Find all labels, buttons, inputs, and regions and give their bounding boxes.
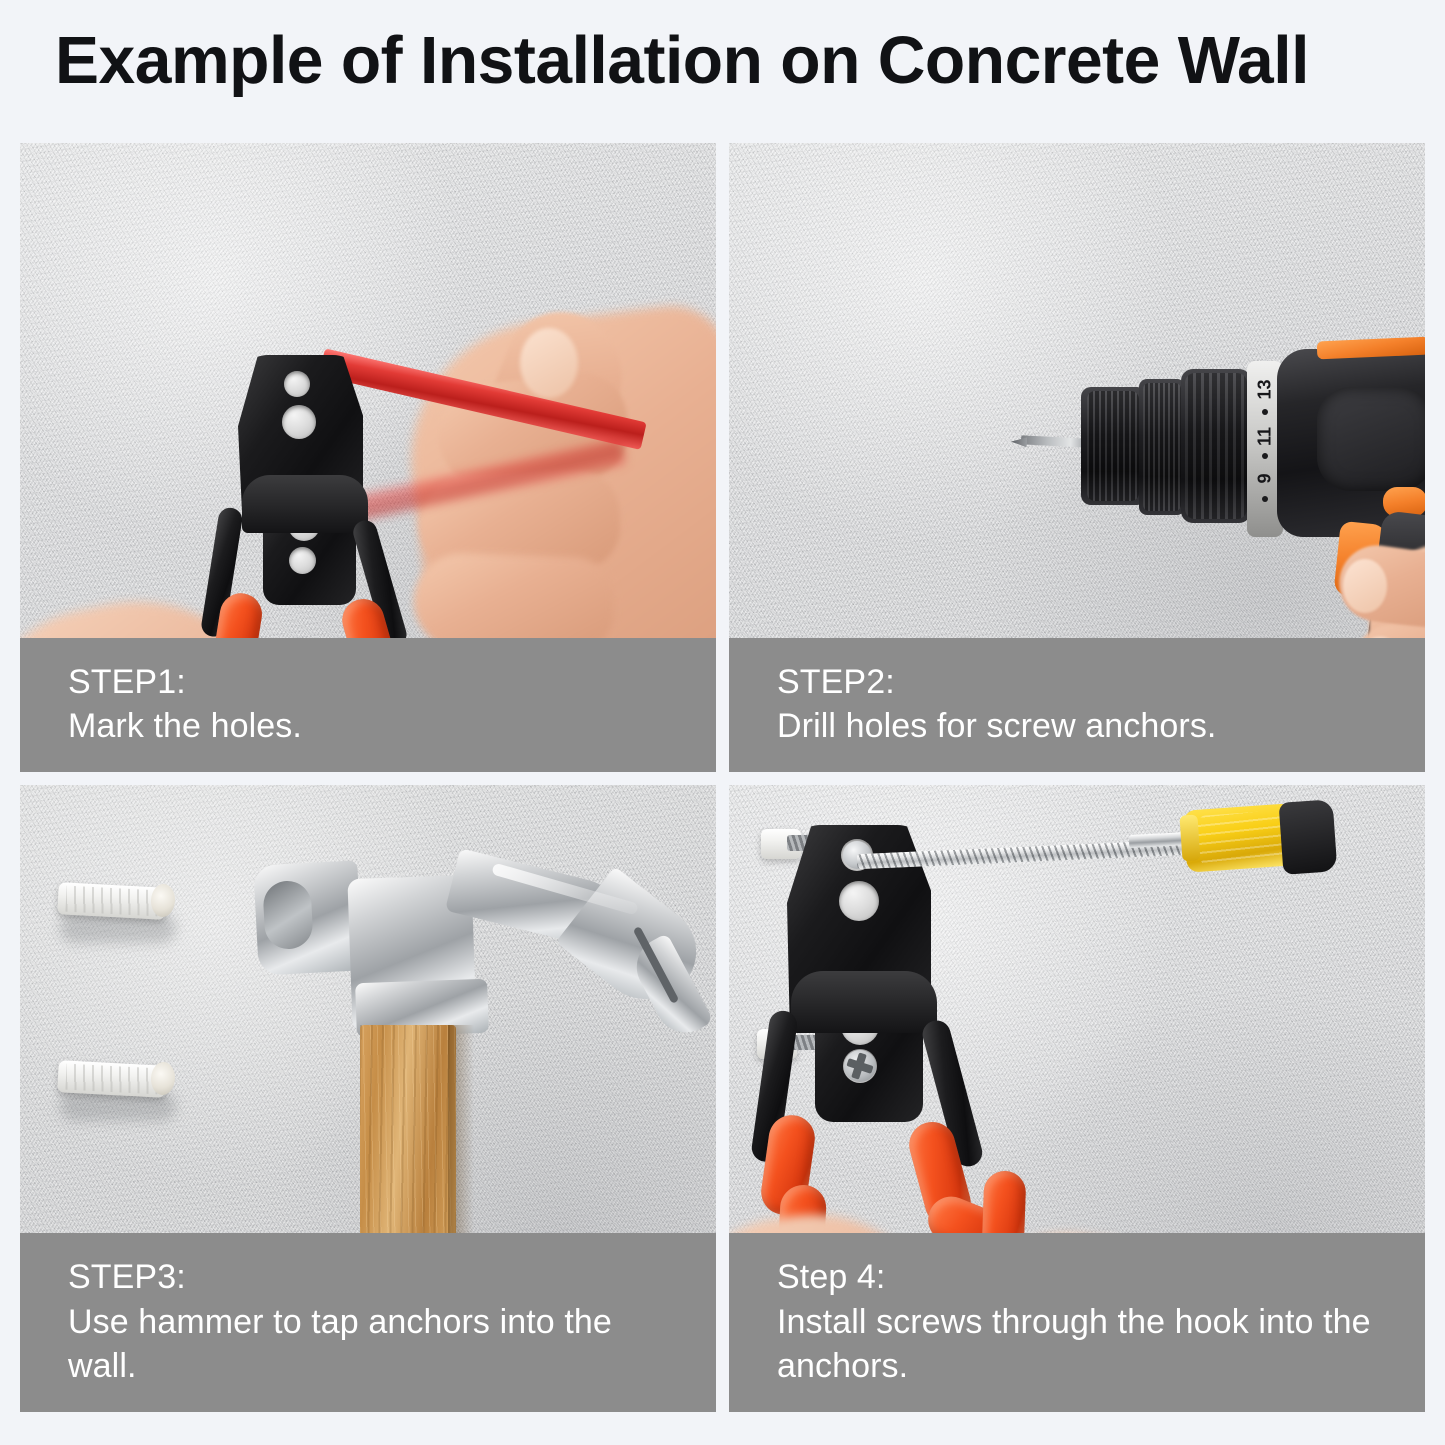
- mount-hole-upper: [282, 405, 316, 439]
- step-panel-4: Step 4: Install screws through the hook …: [729, 785, 1425, 1412]
- step-panel-3: STEP3: Use hammer to tap anchors into th…: [20, 785, 716, 1412]
- mount-hole-bottom: [289, 547, 316, 574]
- clutch-dot-1: [1262, 409, 1268, 415]
- step-panel-2: 13 11 9: [729, 143, 1425, 772]
- step-panel-1: STEP1: Mark the holes.: [20, 143, 716, 772]
- anchor-2-fins: [65, 1064, 158, 1095]
- step-1-text: Mark the holes.: [68, 704, 716, 748]
- clutch-dot-3: [1262, 496, 1268, 502]
- step-2-caption: STEP2: Drill holes for screw anchors.: [729, 638, 1425, 772]
- step-2-text: Drill holes for screw anchors.: [777, 704, 1425, 748]
- wall-anchor-1-mouth: [150, 883, 176, 917]
- step-3-caption: STEP3: Use hammer to tap anchors into th…: [20, 1233, 716, 1412]
- step-2-label: STEP2:: [777, 660, 1425, 704]
- step-3-label: STEP3:: [68, 1255, 716, 1299]
- step-1-label: STEP1:: [68, 660, 716, 704]
- mount-hole-upper-4: [839, 881, 879, 921]
- drill-bit: [1021, 435, 1087, 447]
- screwdriver-handle-cap: [1279, 799, 1338, 875]
- anchor-1-fins: [65, 886, 158, 917]
- screwdriver-handle-grip: [1197, 810, 1286, 866]
- thumb-nail: [520, 328, 578, 398]
- finger-1-nail: [1343, 559, 1387, 613]
- drill-gearbox-ribs: [1185, 373, 1247, 519]
- wall-anchor-2-mouth: [150, 1061, 176, 1095]
- page-title: Example of Installation on Concrete Wall: [55, 27, 1375, 94]
- drill-body-panel: [1317, 387, 1425, 491]
- drill-chuck-collar-ribs: [1143, 383, 1181, 511]
- step-4-text: Install screws through the hook into the…: [777, 1300, 1425, 1388]
- clutch-number-11: 11: [1255, 419, 1276, 455]
- step-4-label: Step 4:: [777, 1255, 1425, 1299]
- hammer-face-bevel: [262, 880, 313, 950]
- drill-chuck-grooves: [1087, 391, 1139, 501]
- step-1-caption: STEP1: Mark the holes.: [20, 638, 716, 772]
- clutch-dot-2: [1262, 453, 1268, 459]
- drill-bit-point: [1011, 437, 1028, 448]
- steps-grid: STEP1: Mark the holes. 13 11 9: [20, 143, 1425, 1412]
- mount-hole-top: [284, 371, 310, 397]
- step-3-text: Use hammer to tap anchors into the wall.: [68, 1300, 716, 1388]
- clutch-number-13: 13: [1255, 372, 1276, 408]
- hook-u-bend-4: [791, 971, 937, 1033]
- clutch-number-9: 9: [1255, 461, 1276, 497]
- step-4-caption: Step 4: Install screws through the hook …: [729, 1233, 1425, 1412]
